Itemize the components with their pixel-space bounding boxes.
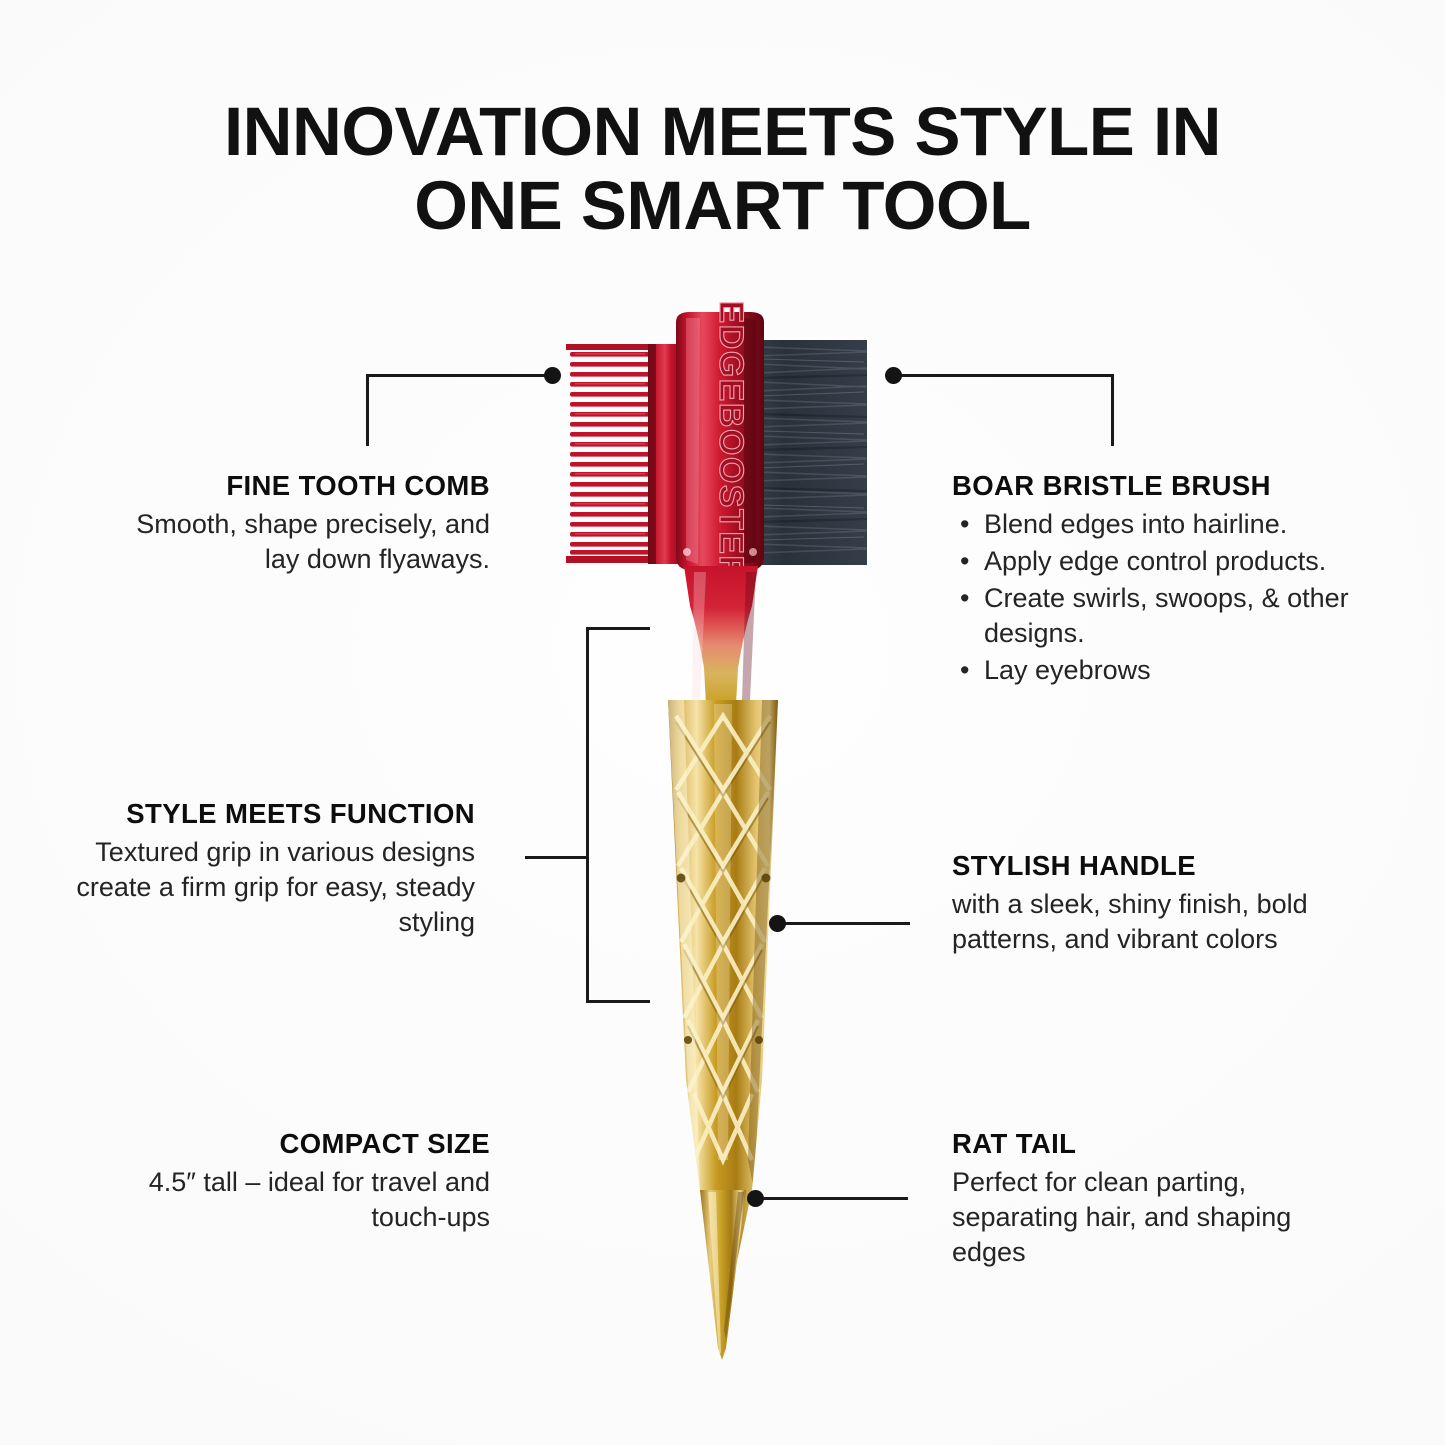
- leader-bracket-style-function-bottom: [586, 1000, 650, 1003]
- list-item-label: Lay eyebrows: [984, 655, 1151, 685]
- leader-line-fine-tooth-comb-vertical: [366, 374, 369, 446]
- callout-rat-tail: RAT TAIL Perfect for clean parting, sepa…: [952, 1128, 1322, 1270]
- leader-line-boar-bristle-vertical: [1111, 374, 1114, 446]
- page-title-line-1: INNOVATION MEETS STYLE IN: [0, 95, 1445, 169]
- list-item: • Create swirls, swoops, & other designs…: [952, 581, 1372, 651]
- callout-boar-bristle-brush-heading: BOAR BRISTLE BRUSH: [952, 470, 1372, 502]
- infographic-page: INNOVATION MEETS STYLE IN ONE SMART TOOL: [0, 0, 1445, 1445]
- leader-node-fine-tooth-comb: [544, 367, 561, 384]
- callout-stylish-handle-body: with a sleek, shiny finish, bold pattern…: [952, 887, 1332, 957]
- leader-line-fine-tooth-comb-horizontal: [366, 374, 554, 377]
- callout-style-meets-function: STYLE MEETS FUNCTION Textured grip in va…: [70, 798, 475, 940]
- handle-neck: [684, 566, 758, 704]
- page-title: INNOVATION MEETS STYLE IN ONE SMART TOOL: [0, 95, 1445, 243]
- bullet-glyph-icon: •: [960, 507, 969, 542]
- page-title-line-2: ONE SMART TOOL: [0, 169, 1445, 243]
- callout-fine-tooth-comb: FINE TOOTH COMB Smooth, shape precisely,…: [100, 470, 490, 577]
- callout-compact-size: COMPACT SIZE 4.5″ tall – ideal for trave…: [145, 1128, 490, 1235]
- callout-rat-tail-body: Perfect for clean parting, separating ha…: [952, 1165, 1322, 1270]
- list-item: • Lay eyebrows: [952, 653, 1372, 688]
- brand-emboss-text: EDGEBOOSTER: [712, 301, 750, 582]
- leader-bracket-style-function-top: [586, 627, 650, 630]
- comb-teeth-group: [566, 344, 688, 564]
- callout-stylish-handle: STYLISH HANDLE with a sleek, shiny finis…: [952, 850, 1332, 957]
- list-item-label: Create swirls, swoops, & other designs.: [984, 583, 1349, 648]
- callout-boar-bristle-brush-bullet-list: • Blend edges into hairline. • Apply edg…: [952, 507, 1372, 688]
- callout-compact-size-heading: COMPACT SIZE: [145, 1128, 490, 1160]
- leader-node-stylish-handle: [769, 915, 786, 932]
- list-item-label: Apply edge control products.: [984, 546, 1326, 576]
- textured-gold-grip: [668, 700, 778, 1332]
- leader-node-boar-bristle: [885, 367, 902, 384]
- callout-fine-tooth-comb-heading: FINE TOOTH COMB: [100, 470, 490, 502]
- callout-boar-bristle-brush: BOAR BRISTLE BRUSH • Blend edges into ha…: [952, 470, 1372, 690]
- callout-compact-size-body: 4.5″ tall – ideal for travel and touch-u…: [145, 1165, 490, 1235]
- bullet-glyph-icon: •: [960, 653, 969, 688]
- bullet-glyph-icon: •: [960, 544, 969, 579]
- leader-line-rat-tail: [760, 1197, 908, 1200]
- list-item-label: Blend edges into hairline.: [984, 509, 1287, 539]
- callout-style-meets-function-heading: STYLE MEETS FUNCTION: [70, 798, 475, 830]
- leader-line-boar-bristle-horizontal: [898, 374, 1114, 377]
- callout-rat-tail-heading: RAT TAIL: [952, 1128, 1322, 1160]
- leader-bracket-style-function-spine: [586, 627, 589, 1003]
- brush-body-spine: EDGEBOOSTER: [676, 301, 764, 582]
- callout-style-meets-function-body: Textured grip in various designs create …: [70, 835, 475, 940]
- callout-stylish-handle-heading: STYLISH HANDLE: [952, 850, 1332, 882]
- leader-bracket-style-function-stem: [525, 856, 589, 859]
- leader-node-rat-tail: [747, 1190, 764, 1207]
- leader-line-stylish-handle: [782, 922, 910, 925]
- callout-fine-tooth-comb-body: Smooth, shape precisely, and lay down fl…: [100, 507, 490, 577]
- list-item: • Blend edges into hairline.: [952, 507, 1372, 542]
- bullet-glyph-icon: •: [960, 581, 969, 616]
- boar-bristle-group: [757, 340, 867, 565]
- list-item: • Apply edge control products.: [952, 544, 1372, 579]
- rat-tail-point: [700, 1190, 746, 1360]
